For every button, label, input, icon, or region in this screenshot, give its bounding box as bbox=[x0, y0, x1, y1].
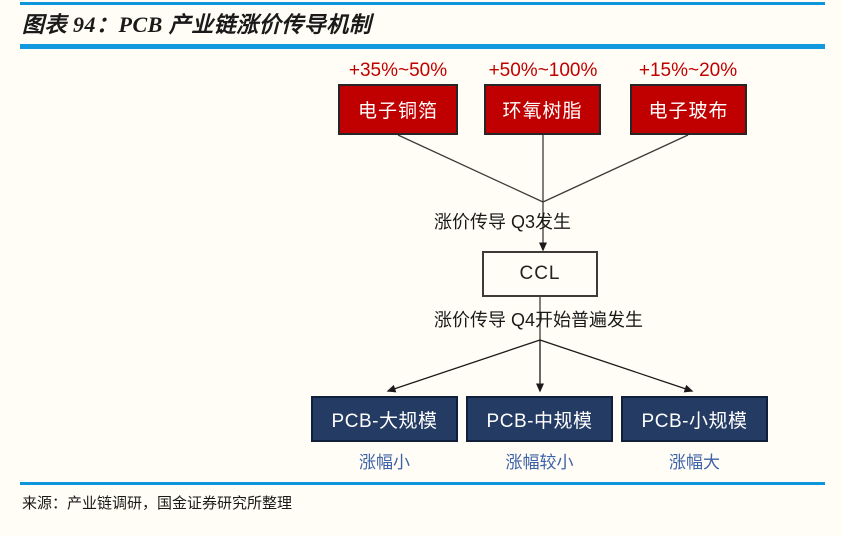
bottom-rule bbox=[20, 482, 825, 485]
edge-label-lower: 涨价传导 Q4开始普遍发生 bbox=[434, 306, 643, 332]
pct-label-1: +50%~100% bbox=[478, 60, 608, 82]
growth-label-2: 涨幅大 bbox=[621, 448, 768, 473]
edge-label-upper: 涨价传导 Q3发生 bbox=[434, 208, 571, 234]
page-title: 图表 94：PCB 产业链涨价传导机制 bbox=[22, 7, 371, 39]
top-rule bbox=[20, 2, 825, 5]
node-ccl[interactable]: CCL bbox=[482, 251, 598, 297]
node-product-1[interactable]: PCB-中规模 bbox=[466, 396, 613, 442]
node-material-2[interactable]: 电子玻布 bbox=[630, 84, 747, 135]
source-note: 来源：产业链调研，国金证券研究所整理 bbox=[22, 492, 292, 513]
node-product-0[interactable]: PCB-大规模 bbox=[311, 396, 458, 442]
node-material-1[interactable]: 环氧树脂 bbox=[484, 84, 601, 135]
flow-diagram: +35%~50% +50%~100% +15%~20% 电子铜箔 环氧树脂 电子… bbox=[0, 50, 842, 480]
growth-label-1: 涨幅较小 bbox=[466, 448, 613, 473]
figure-container: 图表 94：PCB 产业链涨价传导机制 +35%~50% +50%~100% bbox=[0, 0, 842, 536]
pct-label-2: +15%~20% bbox=[626, 60, 750, 82]
pct-label-0: +35%~50% bbox=[338, 60, 458, 82]
growth-label-0: 涨幅小 bbox=[311, 448, 458, 473]
node-product-2[interactable]: PCB-小规模 bbox=[621, 396, 768, 442]
node-material-0[interactable]: 电子铜箔 bbox=[338, 84, 458, 135]
title-underline-rule bbox=[20, 44, 825, 49]
